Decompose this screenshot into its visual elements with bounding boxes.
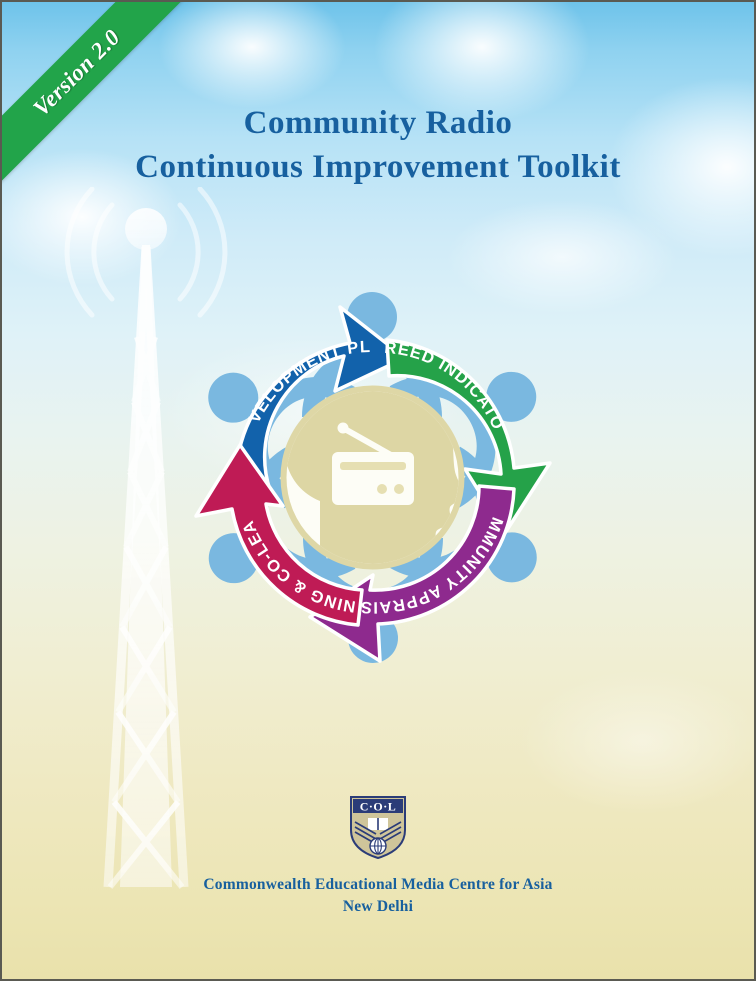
col-logo-text: C·O·L: [360, 800, 397, 814]
title-line-2: Continuous Improvement Toolkit: [2, 146, 754, 190]
book-icon: [368, 818, 388, 830]
continuous-improvement-cycle-diagram: DEVELOPMENT PLAN AGREED INDICATORS COMMU…: [180, 285, 565, 670]
col-logo: C·O·L: [2, 794, 754, 860]
globe-icon: [370, 838, 386, 854]
publisher-city: New Delhi: [2, 896, 754, 918]
cover-title: Community Radio Continuous Improvement T…: [2, 102, 754, 189]
publisher-name: Commonwealth Educational Media Centre fo…: [2, 874, 754, 896]
title-line-1: Community Radio: [2, 102, 754, 146]
publisher-footer: Commonwealth Educational Media Centre fo…: [2, 874, 754, 918]
book-cover: Version 2.0 Community Radio Continuous I…: [0, 0, 756, 981]
